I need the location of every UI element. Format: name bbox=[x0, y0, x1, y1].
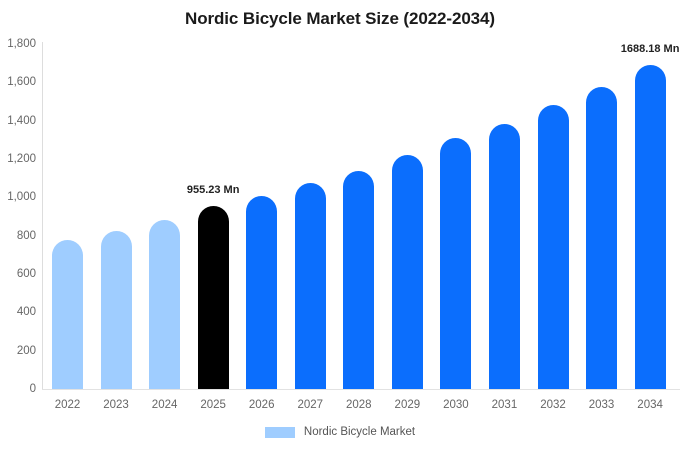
bar-2030[interactable] bbox=[440, 138, 471, 389]
bar-column[interactable] bbox=[101, 44, 132, 389]
chart-title: Nordic Bicycle Market Size (2022-2034) bbox=[0, 9, 680, 29]
chart-legend: Nordic Bicycle Market bbox=[0, 426, 680, 438]
legend-label: Nordic Bicycle Market bbox=[304, 426, 415, 438]
plot-area bbox=[42, 44, 680, 389]
bar-column[interactable] bbox=[440, 44, 471, 389]
bar-value-label-2034: 1688.18 Mn bbox=[621, 43, 680, 55]
y-axis-tick-label: 1,200 bbox=[2, 153, 36, 165]
bar-column[interactable] bbox=[52, 44, 83, 389]
bar-column[interactable] bbox=[392, 44, 423, 389]
bar-column[interactable] bbox=[295, 44, 326, 389]
y-axis-tick-label: 600 bbox=[2, 268, 36, 280]
bar-column[interactable] bbox=[489, 44, 520, 389]
bar-column[interactable] bbox=[343, 44, 374, 389]
bar-column[interactable] bbox=[586, 44, 617, 389]
y-axis-tick-label: 400 bbox=[2, 306, 36, 318]
bar-column[interactable] bbox=[635, 44, 666, 389]
bar-2034[interactable] bbox=[635, 65, 666, 389]
bar-2024[interactable] bbox=[149, 220, 180, 389]
y-axis-tick-label: 800 bbox=[2, 230, 36, 242]
bar-2022[interactable] bbox=[52, 240, 83, 389]
bar-chart: Nordic Bicycle Market Size (2022-2034) 0… bbox=[0, 0, 680, 450]
bar-2026[interactable] bbox=[246, 196, 277, 389]
legend-item-nordic-bicycle-market[interactable]: Nordic Bicycle Market bbox=[265, 426, 415, 438]
y-axis-tick-label: 1,600 bbox=[2, 76, 36, 88]
y-axis-tick-label: 200 bbox=[2, 345, 36, 357]
bar-column[interactable] bbox=[198, 44, 229, 389]
bar-column[interactable] bbox=[149, 44, 180, 389]
y-axis-tick-label: 1,400 bbox=[2, 115, 36, 127]
y-axis-tick-label: 1,000 bbox=[2, 191, 36, 203]
bar-column[interactable] bbox=[246, 44, 277, 389]
y-axis-tick-label: 1,800 bbox=[2, 38, 36, 50]
bar-2023[interactable] bbox=[101, 231, 132, 389]
bar-2033[interactable] bbox=[586, 87, 617, 389]
bar-2031[interactable] bbox=[489, 124, 520, 389]
bar-value-label-2025: 955.23 Mn bbox=[187, 184, 240, 196]
bar-2028[interactable] bbox=[343, 171, 374, 389]
legend-swatch-icon bbox=[265, 427, 295, 438]
x-axis-line bbox=[42, 389, 680, 390]
x-axis-tick-label-2034: 2034 bbox=[620, 399, 680, 411]
bar-2029[interactable] bbox=[392, 155, 423, 389]
bar-2032[interactable] bbox=[538, 105, 569, 389]
bar-column[interactable] bbox=[538, 44, 569, 389]
bar-2025[interactable] bbox=[198, 206, 229, 389]
bar-2027[interactable] bbox=[295, 183, 326, 389]
y-axis-tick-label: 0 bbox=[2, 383, 36, 395]
y-axis-tick-labels: 02004006008001,0001,2001,4001,6001,800 bbox=[0, 0, 36, 450]
